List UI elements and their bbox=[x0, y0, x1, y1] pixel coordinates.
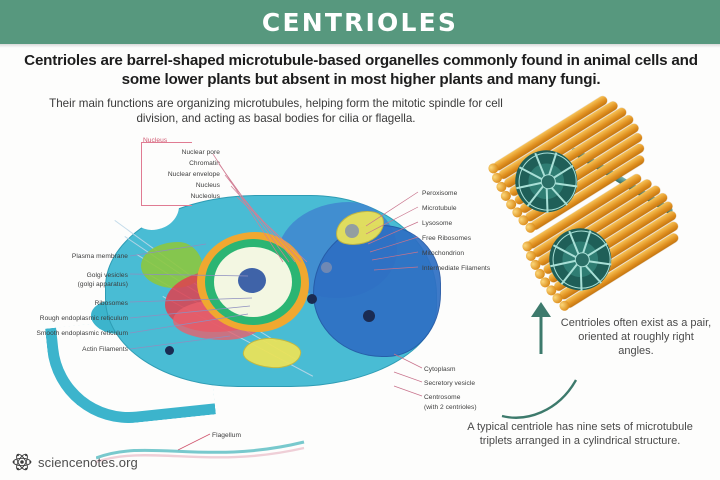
curved-arrow-icon bbox=[500, 378, 590, 422]
footer-site-name: sciencenotes.org bbox=[38, 455, 138, 470]
label-secretory-vesicle: Secretory vesicle bbox=[424, 380, 475, 389]
label-lysosome: Lysosome bbox=[422, 220, 452, 229]
label-ribosomes: Ribosomes bbox=[38, 300, 128, 309]
vesicle-shape bbox=[363, 310, 375, 322]
vesicle-shape bbox=[307, 294, 317, 304]
label-golgi-vesicles: Golgi vesicles bbox=[28, 272, 128, 281]
label-actin-filaments: Actin Filaments bbox=[30, 346, 128, 355]
right-leader-lines bbox=[360, 186, 424, 282]
lower-right-leader-lines bbox=[392, 352, 428, 412]
lysosome-shape bbox=[345, 224, 359, 238]
label-centrosome-detail: (with 2 centrioles) bbox=[424, 404, 477, 413]
label-golgi-apparatus: (golgi apparatus) bbox=[22, 281, 128, 290]
centriole-pair-illustration bbox=[480, 112, 720, 317]
label-plasma-membrane: Plasma membrane bbox=[18, 253, 128, 262]
header-shadow bbox=[0, 44, 720, 48]
label-mitochondrion: Mitochondrion bbox=[422, 250, 464, 259]
subtext: Their main functions are organizing micr… bbox=[28, 97, 524, 126]
lede-text: Centrioles are barrel-shaped microtubule… bbox=[24, 51, 698, 89]
label-rough-er: Rough endoplasmic reticulum bbox=[2, 315, 128, 324]
caption-centriole-triplets: A typical centriole has nine sets of mic… bbox=[452, 420, 708, 448]
header-band: CENTRIOLES bbox=[0, 0, 720, 44]
left-leader-lines bbox=[128, 240, 258, 360]
label-microtubule: Microtubule bbox=[422, 205, 457, 214]
nucleus-group-heading: Nucleus bbox=[143, 137, 167, 146]
label-free-ribosomes: Free Ribosomes bbox=[422, 235, 471, 244]
page-title: CENTRIOLES bbox=[262, 8, 458, 37]
label-cytoplasm: Cytoplasm bbox=[424, 366, 456, 375]
label-peroxisome: Peroxisome bbox=[422, 190, 457, 199]
atom-icon bbox=[12, 452, 32, 472]
infographic-canvas: CENTRIOLES Centrioles are barrel-shaped … bbox=[0, 0, 720, 480]
up-arrow-icon bbox=[530, 300, 552, 354]
label-centrosome: Centrosome bbox=[424, 394, 460, 403]
footer: sciencenotes.org bbox=[12, 452, 138, 472]
caption-centriole-pair: Centrioles often exist as a pair, orient… bbox=[560, 316, 712, 358]
label-smooth-er: Smooth endoplasmic reticulum bbox=[0, 330, 128, 339]
